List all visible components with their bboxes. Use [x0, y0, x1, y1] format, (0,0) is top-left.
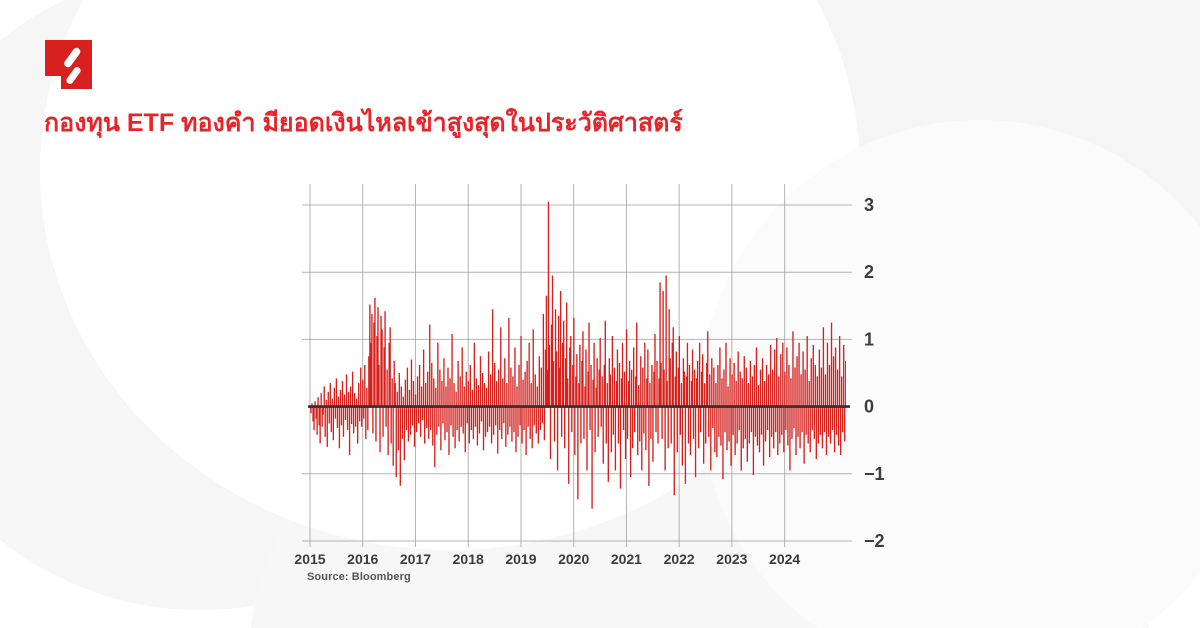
y-axis-tick-label: −1: [864, 464, 885, 484]
x-axis-tick-label: 2024: [769, 551, 800, 567]
chart-y-axis-labels: 3210−1−2: [864, 195, 885, 551]
x-axis-tick-label: 2021: [611, 551, 642, 567]
y-axis-tick-label: 1: [864, 329, 874, 349]
chart-series-gold-etf-flows: [310, 202, 846, 509]
gold-etf-flows-chart: 3210−1−220152016201720182019202020212022…: [0, 0, 1200, 628]
y-axis-tick-label: 2: [864, 262, 874, 282]
y-axis-tick-label: 0: [864, 397, 874, 417]
x-axis-tick-label: 2022: [664, 551, 695, 567]
chart-svg: 3210−1−220152016201720182019202020212022…: [0, 0, 1200, 628]
x-axis-tick-label: 2018: [453, 551, 484, 567]
x-axis-tick-label: 2015: [294, 551, 325, 567]
y-axis-tick-label: −2: [864, 531, 885, 551]
x-axis-tick-label: 2017: [400, 551, 431, 567]
y-axis-tick-label: 3: [864, 195, 874, 215]
infographic-page: กองทุน ETF ทองคำ มียอดเงินไหลเข้าสูงสุดใ…: [0, 0, 1200, 628]
chart-x-axis-labels: 2015201620172018201920202021202220232024: [294, 551, 800, 567]
chart-source-note: Source: Bloomberg: [307, 571, 411, 583]
x-axis-tick-label: 2016: [347, 551, 378, 567]
x-axis-tick-label: 2019: [505, 551, 536, 567]
x-axis-tick-label: 2020: [558, 551, 589, 567]
x-axis-tick-label: 2023: [716, 551, 747, 567]
